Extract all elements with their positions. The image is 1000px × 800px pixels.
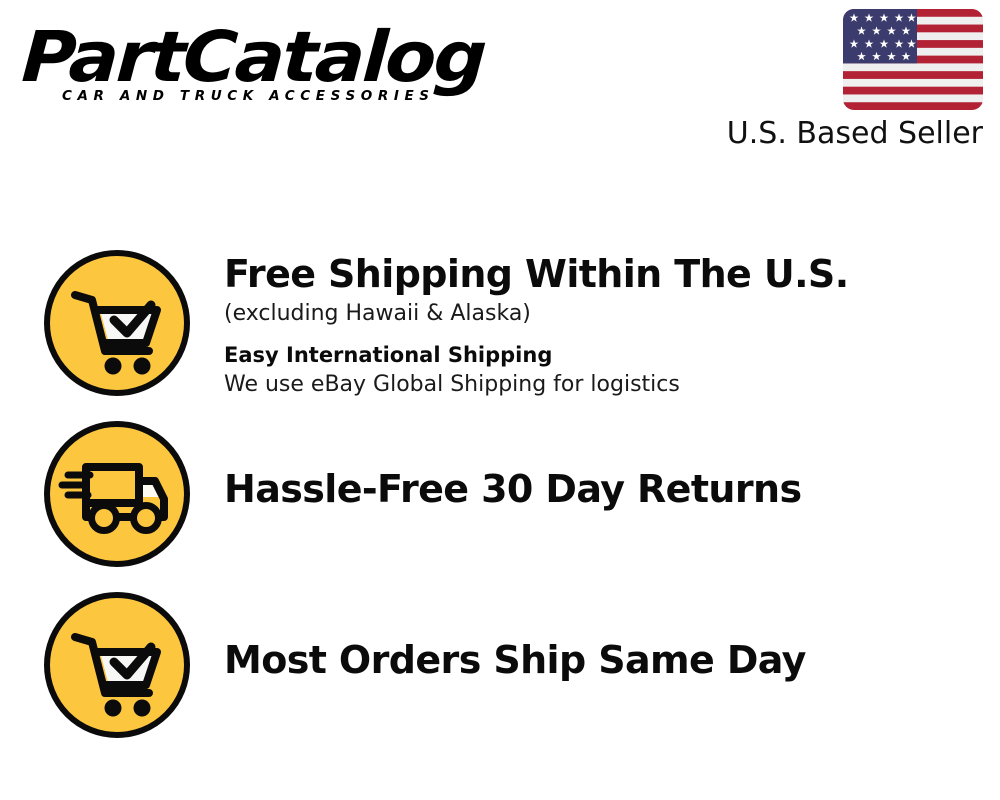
benefit-title: Most Orders Ship Same Day bbox=[224, 638, 984, 682]
benefit-text-block: Hassle-Free 30 Day Returns bbox=[224, 467, 984, 511]
benefits-list: Free Shipping Within The U.S. (excluding… bbox=[0, 0, 1000, 800]
benefit-title: Free Shipping Within The U.S. bbox=[224, 252, 984, 296]
benefit-title: Hassle-Free 30 Day Returns bbox=[224, 467, 984, 511]
benefit-sub-detail: We use eBay Global Shipping for logistic… bbox=[224, 370, 984, 400]
benefit-text-block: Free Shipping Within The U.S. (excluding… bbox=[224, 252, 984, 400]
shopping-cart-check-icon bbox=[42, 248, 192, 398]
benefit-text-block: Most Orders Ship Same Day bbox=[224, 638, 984, 682]
benefit-subtitle: (excluding Hawaii & Alaska) bbox=[224, 299, 984, 329]
benefit-sub-heading: Easy International Shipping bbox=[224, 340, 984, 370]
delivery-truck-icon bbox=[42, 419, 192, 569]
shopping-cart-check-icon bbox=[42, 590, 192, 740]
